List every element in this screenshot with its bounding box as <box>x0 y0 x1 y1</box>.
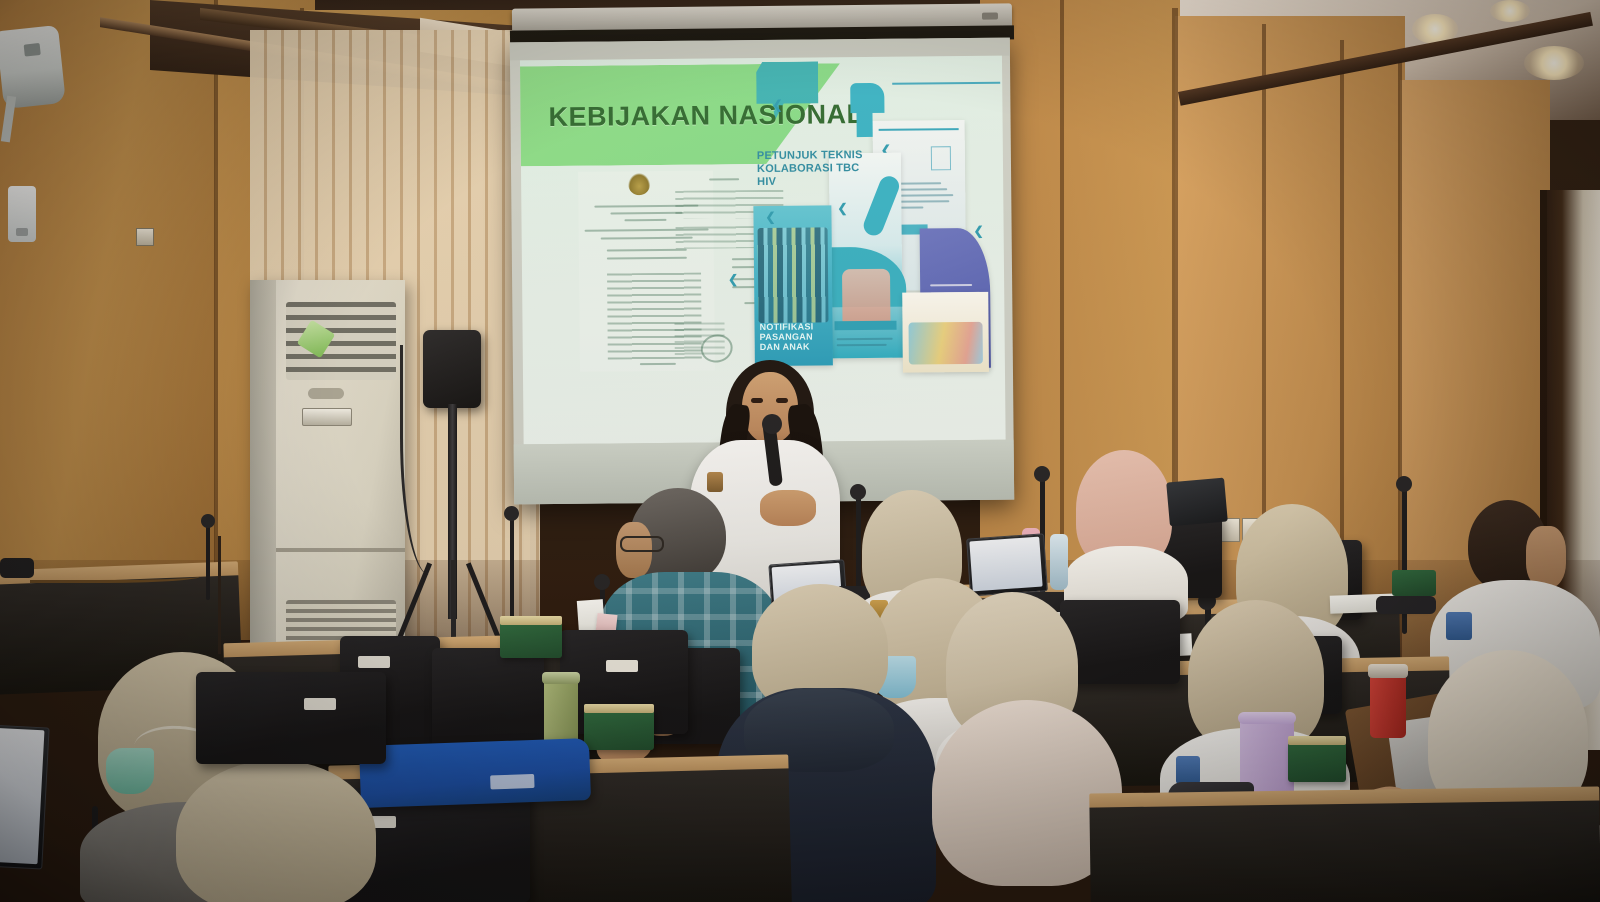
face <box>1526 526 1566 588</box>
chair-inventory-label <box>304 698 336 710</box>
ac-seam <box>276 548 405 552</box>
mic-capsule-icon <box>1034 466 1050 482</box>
snack-box-center <box>584 710 654 750</box>
cover-a-title: NOTIFIKASI PASANGAN DAN ANAK <box>759 322 813 353</box>
garuda-emblem-icon <box>628 173 650 195</box>
teal-accent-shape-1 <box>850 83 884 113</box>
cover-a-title-line3: DAN ANAK <box>760 342 814 353</box>
eyeglasses-icon <box>620 536 664 552</box>
cover-b-text <box>837 338 893 341</box>
snack-box-right-1 <box>1288 742 1346 782</box>
blue-tote-bag[interactable] <box>359 738 591 808</box>
ac-brand-logo-icon <box>308 388 344 399</box>
teal-rule-line <box>892 82 1000 85</box>
sanitizer-nozzle-icon <box>16 228 28 236</box>
desk-mic-base-right[interactable] <box>1376 596 1436 614</box>
petunjuk-line1: PETUNJUK TEKNIS <box>757 149 867 163</box>
chevron-logo-icon: ❮ <box>974 224 984 238</box>
mic-capsule-icon <box>201 514 215 528</box>
table-skirt <box>1089 800 1600 902</box>
teal-accent-shape-2 <box>856 111 872 137</box>
ac-control-panel[interactable] <box>302 408 352 426</box>
guidebook-cover-notifikasi: NOTIFIKASI PASANGAN DAN ANAK <box>753 205 833 366</box>
chevron-logo-icon: ❮ <box>765 210 775 224</box>
doc-line <box>624 219 666 221</box>
chair-front-left-2[interactable] <box>432 648 544 750</box>
screen-housing-end-cap <box>982 13 998 20</box>
ceiling-downlight-3 <box>1490 0 1530 22</box>
ac-side-panel <box>250 280 276 675</box>
red-thermos <box>1370 672 1406 738</box>
chevron-logo-icon: ❮ <box>728 272 738 286</box>
snack-box-back-right <box>1392 570 1436 596</box>
seminar-room-photo: KEBIJAKAN NASIONAL <box>0 0 1600 902</box>
mic-stand-left[interactable] <box>206 520 210 600</box>
cover-d-text <box>930 284 972 286</box>
hijab <box>176 760 376 902</box>
mic-capsule-icon <box>1396 476 1412 492</box>
cover-a-crowd-illustration <box>758 227 829 323</box>
microphone-head-icon <box>762 414 782 434</box>
cover-b-text <box>837 344 887 346</box>
chair-left-back[interactable] <box>196 672 386 764</box>
hand-sanitizer-dispenser[interactable] <box>8 186 36 242</box>
purple-tumbler-lip <box>1238 712 1296 724</box>
chevron-logo-icon: ❮ <box>837 201 847 215</box>
mic-capsule-icon <box>504 506 519 521</box>
ceiling-downlight-2 <box>1524 46 1584 80</box>
laptop-screen[interactable] <box>0 728 44 864</box>
chevron-logo-icon: ❮ <box>772 98 782 112</box>
slide-title: KEBIJAKAN NASIONAL <box>548 99 863 133</box>
petunjuk-teknis-title: PETUNJUK TEKNIS KOLABORASI TBC HIV <box>757 149 867 189</box>
green-thermos-cap <box>542 672 580 684</box>
snack-box-left <box>500 622 562 658</box>
ac-brand-logo-icon <box>24 43 41 57</box>
pa-speaker <box>423 330 481 408</box>
petunjuk-line2: KOLABORASI TBC HIV <box>757 162 867 189</box>
chair-inventory-label <box>358 656 390 668</box>
cover-c-rule <box>879 128 959 131</box>
shoulder-patch <box>1176 756 1200 784</box>
presenter-eye-right <box>776 398 788 403</box>
guidebook-cover-e <box>902 292 989 373</box>
snack-box-lid <box>1288 736 1346 745</box>
cover-a-title-line2: PASANGAN <box>760 332 814 343</box>
snack-box-lid <box>584 704 654 713</box>
cover-b-label <box>834 321 896 331</box>
chair-inventory-label <box>606 660 638 672</box>
presenter-eye-left <box>751 398 763 403</box>
tote-bag-logo <box>490 774 534 790</box>
snack-box-lid <box>500 616 562 625</box>
cover-a-title-line1: NOTIFIKASI <box>759 322 813 333</box>
table-front-right <box>1089 786 1600 902</box>
tripod-leg-center <box>451 560 456 640</box>
doc2-line <box>709 178 739 180</box>
person-pink-hijab <box>1060 450 1190 610</box>
red-thermos-cap <box>1368 664 1408 678</box>
desk-microphone-back-left[interactable] <box>0 558 34 578</box>
laptop-front-left[interactable] <box>0 725 48 868</box>
hanging-cable-left <box>218 536 221 654</box>
clear-water-bottle <box>1050 534 1068 590</box>
light-switch-left[interactable] <box>136 228 154 246</box>
shoulder-patch <box>1446 612 1472 640</box>
cover-e-illustration <box>909 322 983 365</box>
cover-c-doc-icon <box>931 146 951 170</box>
person-left-hijab-2 <box>168 760 388 902</box>
